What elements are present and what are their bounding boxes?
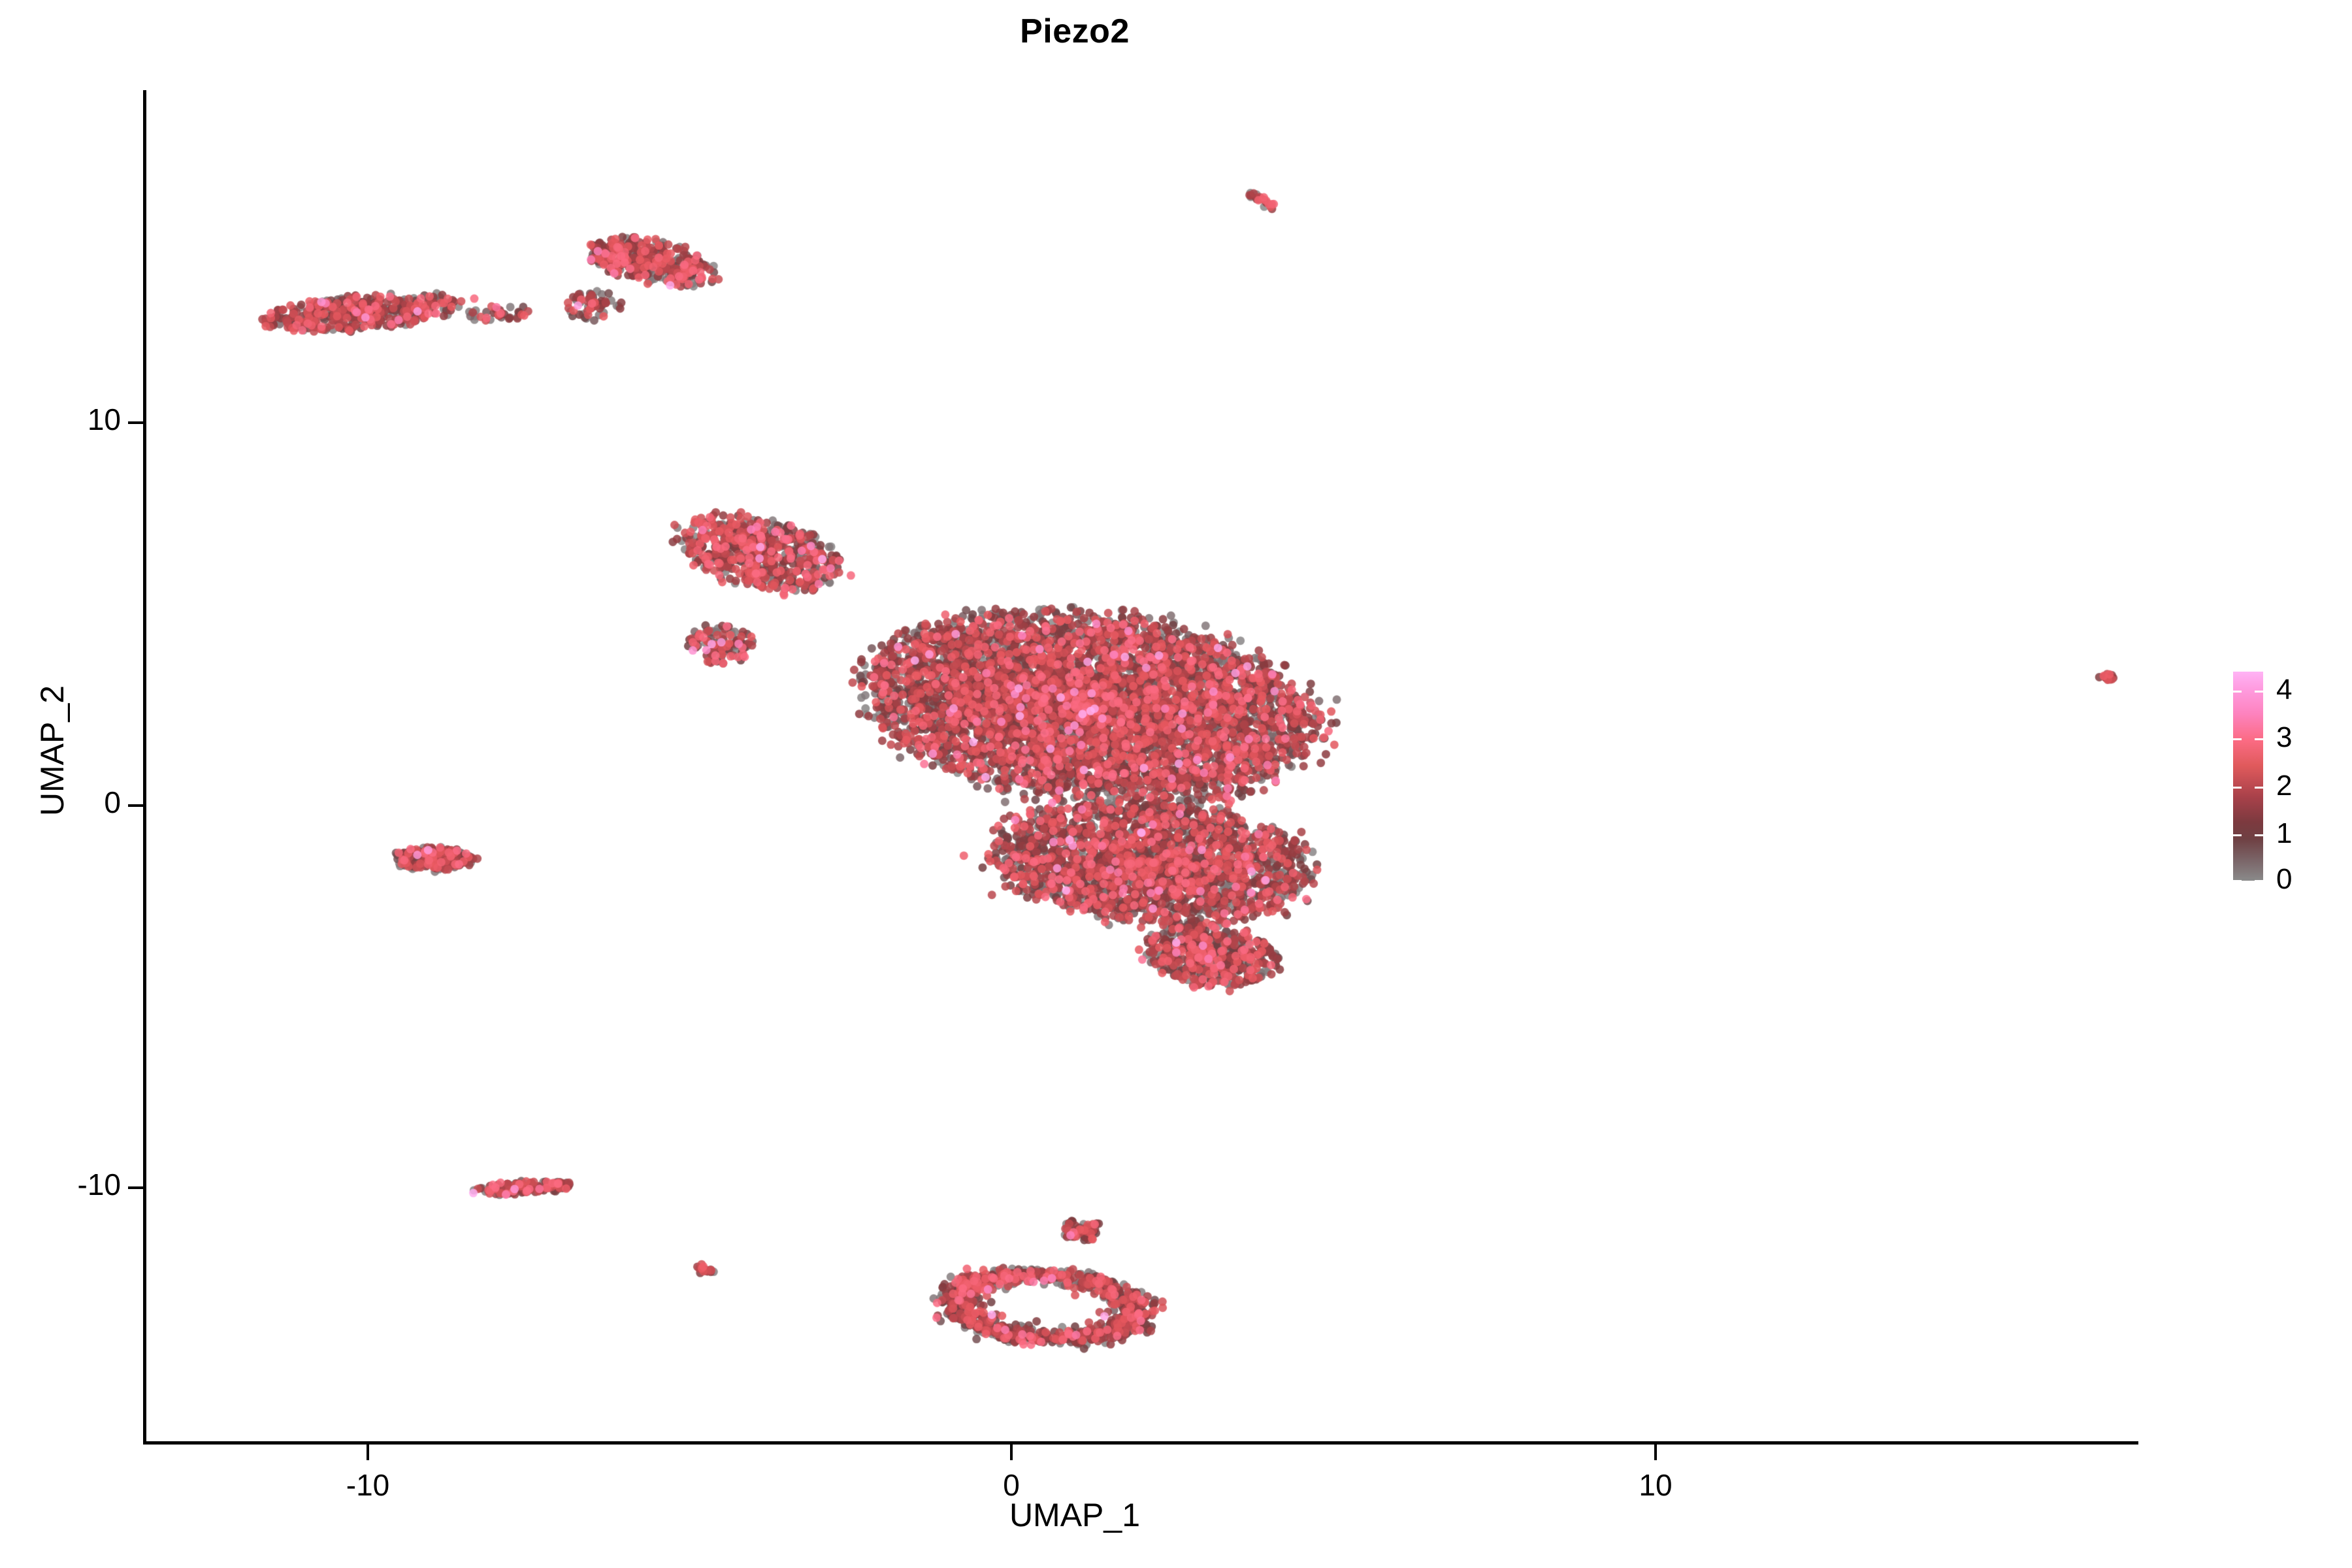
- colorbar-gradient: [2233, 672, 2263, 881]
- colorbar-tick-0-right: [2255, 880, 2263, 882]
- colorbar-label-2: 2: [2276, 772, 2322, 800]
- colorbar-tick-0-left: [2233, 880, 2242, 882]
- colorbar-tick-1-right: [2255, 834, 2263, 836]
- scatter-plot-area: [146, 91, 2139, 1441]
- colorbar-tick-3-left: [2233, 738, 2242, 740]
- colorbar-tick-4-right: [2255, 691, 2263, 693]
- x-axis-title: UMAP_1: [0, 1496, 2149, 1534]
- umap-feature-plot: Piezo2 10 0 -10 -10 0 10 UMAP_1 UMAP_2 4…: [0, 0, 2352, 1568]
- colorbar-label-1: 1: [2276, 819, 2322, 848]
- x-tick-mark-10: [1654, 1445, 1657, 1460]
- colorbar-tick-4-left: [2233, 691, 2242, 693]
- colorbar-tick-2-right: [2255, 787, 2263, 789]
- colorbar-tick-2-left: [2233, 787, 2242, 789]
- page-title: Piezo2: [0, 12, 2149, 51]
- colorbar-legend: 4 3 2 1 0: [2233, 666, 2344, 889]
- colorbar-label-0: 0: [2276, 865, 2322, 894]
- y-tick-label-10: 10: [0, 402, 121, 437]
- colorbar-tick-3-right: [2255, 738, 2263, 740]
- x-tick-mark-0: [1010, 1445, 1013, 1460]
- y-tick-mark-0: [128, 804, 144, 807]
- colorbar-label-4: 4: [2276, 676, 2322, 704]
- y-tick-label-neg10: -10: [0, 1167, 121, 1202]
- x-axis-line: [143, 1441, 2138, 1445]
- x-tick-mark-neg10: [367, 1445, 369, 1460]
- y-tick-mark-neg10: [128, 1186, 144, 1189]
- scatter-points-layer: [146, 91, 2139, 1441]
- colorbar-tick-1-left: [2233, 834, 2242, 836]
- colorbar-label-3: 3: [2276, 723, 2322, 752]
- y-axis-title: UMAP_2: [33, 555, 71, 947]
- y-tick-mark-10: [128, 421, 144, 424]
